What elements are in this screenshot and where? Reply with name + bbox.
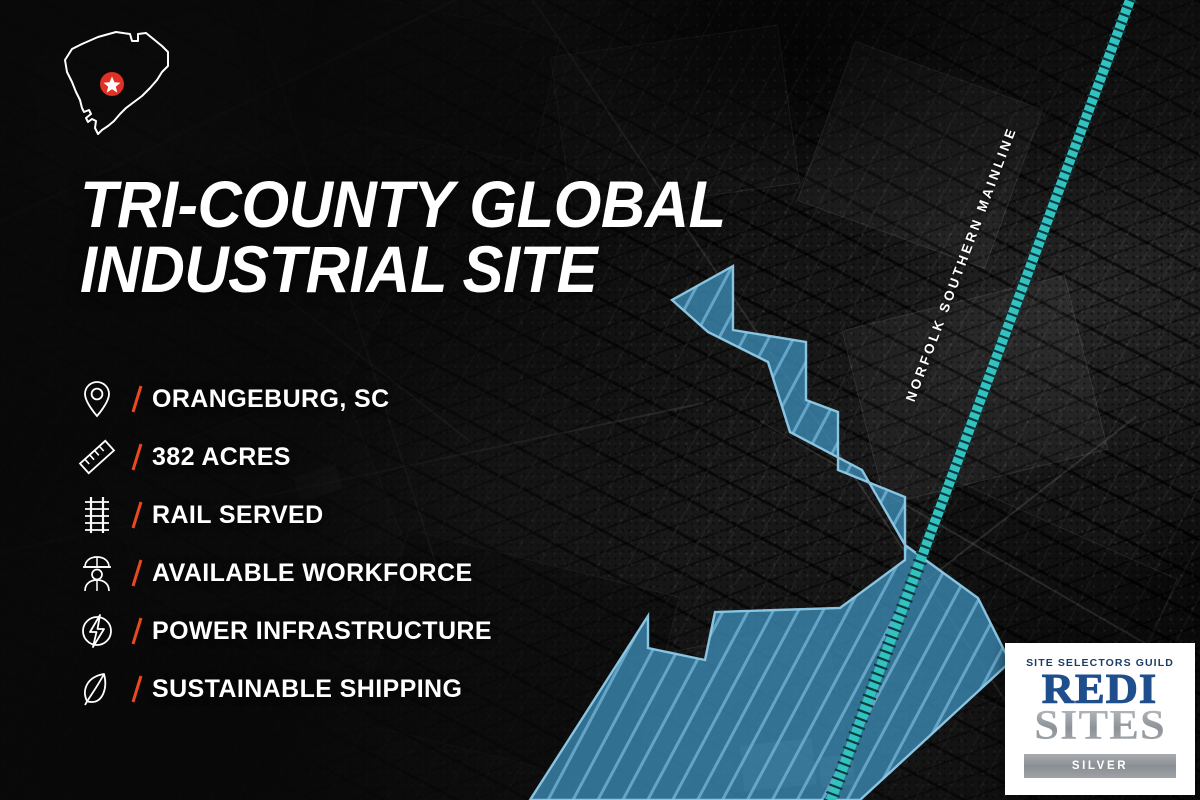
aerial-map-background: NORFOLK SOUTHERN MAINLINE — [0, 0, 1200, 800]
site-boundary-outline — [0, 0, 1200, 800]
